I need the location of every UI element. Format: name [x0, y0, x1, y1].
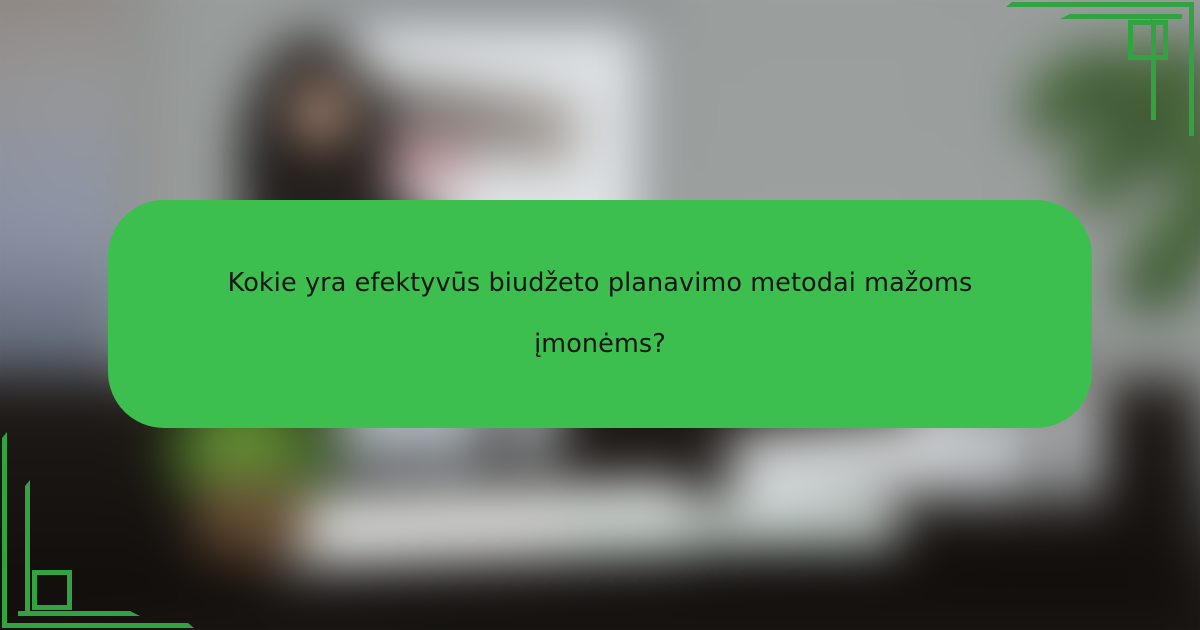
bracket-horizontal-bar-outer [6, 623, 194, 628]
background-pink-object [380, 140, 470, 186]
screenshot-canvas: Kokie yra efektyvūs biudžeto planavimo m… [0, 0, 1200, 630]
background-plant-pot [196, 480, 306, 560]
bracket-vertical-bar-outer [1189, 2, 1194, 136]
bracket-small-square [32, 570, 72, 610]
question-card: Kokie yra efektyvūs biudžeto planavimo m… [108, 200, 1092, 428]
bracket-vertical-bar-outer [2, 432, 7, 628]
bracket-horizontal-bar-inner [1060, 14, 1182, 19]
bracket-horizontal-bar-outer [1006, 2, 1194, 7]
bracket-small-square [1128, 20, 1168, 60]
background-left-wall-strip [0, 0, 120, 410]
question-text: Kokie yra efektyvūs biudžeto planavimo m… [186, 253, 1014, 375]
corner-bracket-bottom-left [0, 430, 200, 630]
corner-bracket-top-right [1000, 0, 1200, 136]
background-person-face [292, 80, 350, 146]
bracket-vertical-bar-inner [25, 480, 30, 612]
background-paper-sheet [560, 499, 901, 551]
bracket-horizontal-bar-inner [18, 611, 140, 616]
